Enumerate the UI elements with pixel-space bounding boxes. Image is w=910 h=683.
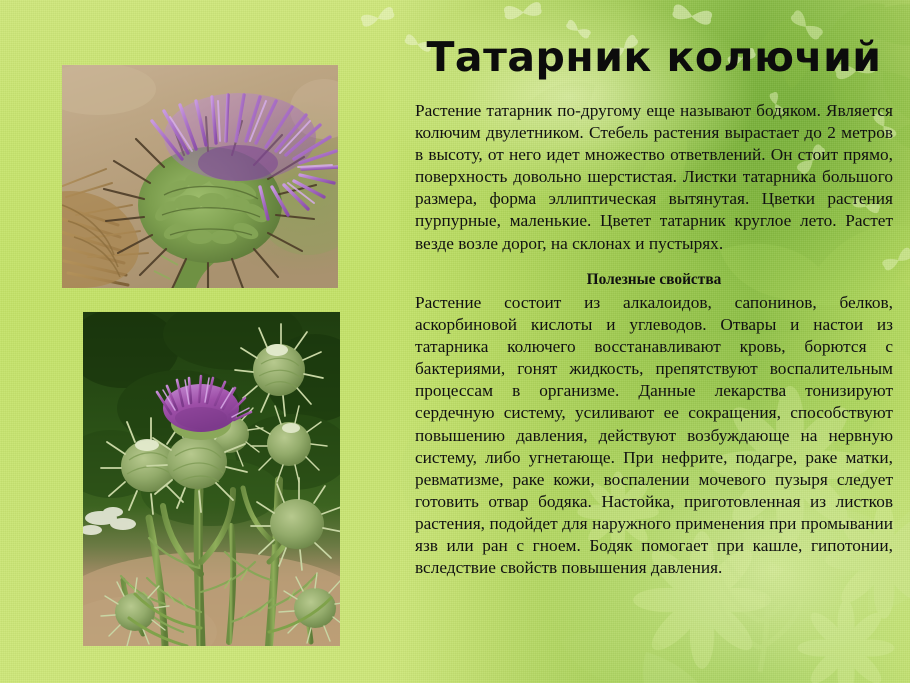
page-title: Татарник колючий — [415, 36, 893, 79]
section-subheading: Полезные свойства — [415, 270, 893, 289]
thistle-plant-photo — [83, 312, 340, 646]
properties-paragraph: Растение состоит из алкалоидов, сапонино… — [415, 292, 893, 579]
description-paragraph: Растение татарник по-другому еще называю… — [415, 100, 893, 255]
thistle-plant-illustration — [83, 312, 340, 646]
thistle-flower-photo — [62, 65, 338, 288]
text-column: Татарник колючий Растение татарник по-др… — [415, 0, 893, 683]
slide: Татарник колючий Растение татарник по-др… — [0, 0, 910, 683]
thistle-flower-illustration — [62, 65, 338, 288]
